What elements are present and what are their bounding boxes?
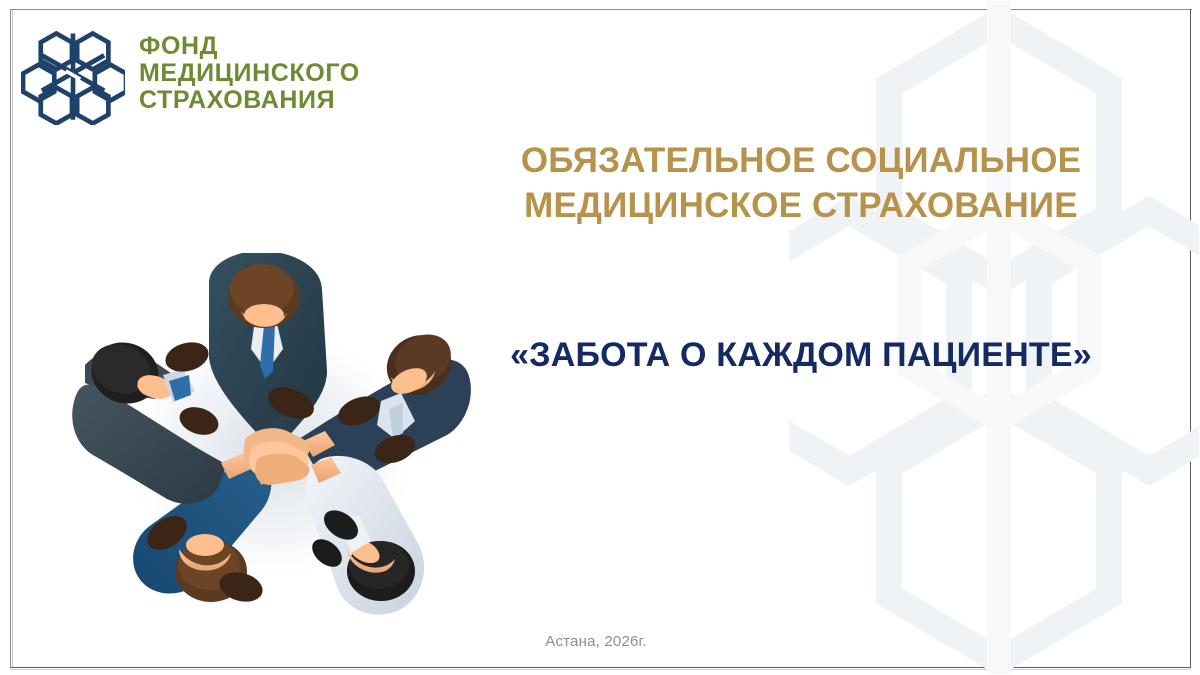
- page-title: ОБЯЗАТЕЛЬНОЕ СОЦИАЛЬНОЕ МЕДИЦИНСКОЕ СТРА…: [431, 139, 1171, 229]
- slide-border-right: [1190, 9, 1191, 668]
- slide-border-left-inner: [12, 9, 13, 668]
- page-subtitle: «ЗАБОТА О КАЖДОМ ПАЦИЕНТЕ»: [431, 336, 1171, 375]
- logo-line-2: МЕДИЦИНСКОГО: [139, 60, 360, 87]
- teamwork-illustration: [59, 253, 479, 623]
- hexagonal-snowflake-logo-icon: [21, 21, 125, 125]
- slide-border-top: [10, 9, 1192, 10]
- page-title-line-1: ОБЯЗАТЕЛЬНОЕ СОЦИАЛЬНОЕ: [431, 139, 1171, 184]
- presentation-slide: ФОНД МЕДИЦИНСКОГО СТРАХОВАНИЯ ОБЯЗАТЕЛЬН…: [0, 0, 1200, 675]
- slide-border-bottom: [10, 667, 1191, 668]
- logo-wordmark: ФОНД МЕДИЦИНСКОГО СТРАХОВАНИЯ: [139, 33, 360, 114]
- page-title-line-2: МЕДИЦИНСКОЕ СТРАХОВАНИЕ: [431, 184, 1171, 229]
- logo-line-1: ФОНД: [139, 33, 360, 60]
- organization-logo: ФОНД МЕДИЦИНСКОГО СТРАХОВАНИЯ: [21, 21, 360, 125]
- slide-border-left: [10, 9, 11, 668]
- slide-footer-location-year: Астана, 2026г.: [431, 633, 761, 650]
- logo-line-3: СТРАХОВАНИЯ: [139, 87, 360, 114]
- slide-border-bottom-inner: [10, 669, 1191, 670]
